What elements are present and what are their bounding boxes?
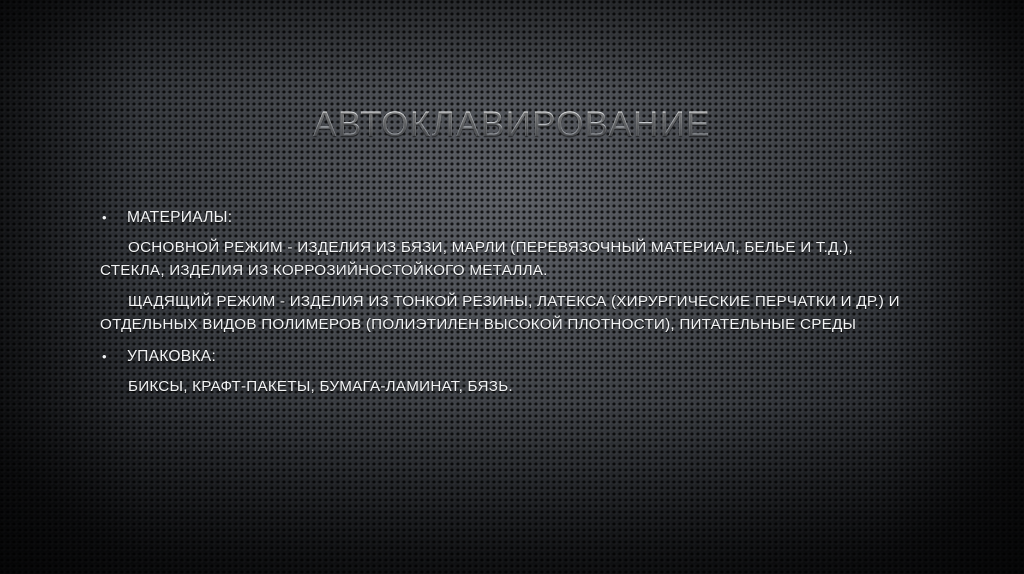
bullet-item-materials: • Материалы: — [100, 207, 912, 229]
paragraph-basic-mode: Основной режим - изделия из бязи, марли … — [100, 237, 912, 282]
presentation-slide: АВТОКЛАВИРОВАНИЕ • Материалы: Основной р… — [0, 0, 1024, 574]
bullet-icon: • — [100, 207, 127, 229]
bullet-icon: • — [100, 346, 127, 368]
bullet-heading-packaging: Упаковка: — [127, 346, 912, 368]
bullet-heading-materials: Материалы: — [127, 207, 912, 229]
bullet-item-packaging: • Упаковка: — [100, 346, 912, 368]
slide-title: АВТОКЛАВИРОВАНИЕ — [0, 104, 1024, 146]
slide-body: • Материалы: Основной режим - изделия из… — [100, 207, 912, 399]
paragraph-gentle-mode: Щадящий режим - изделия из тонкой резины… — [100, 291, 912, 336]
paragraph-packaging-types: Биксы, крафт-пакеты, бумага-ламинат, бяз… — [100, 376, 912, 399]
